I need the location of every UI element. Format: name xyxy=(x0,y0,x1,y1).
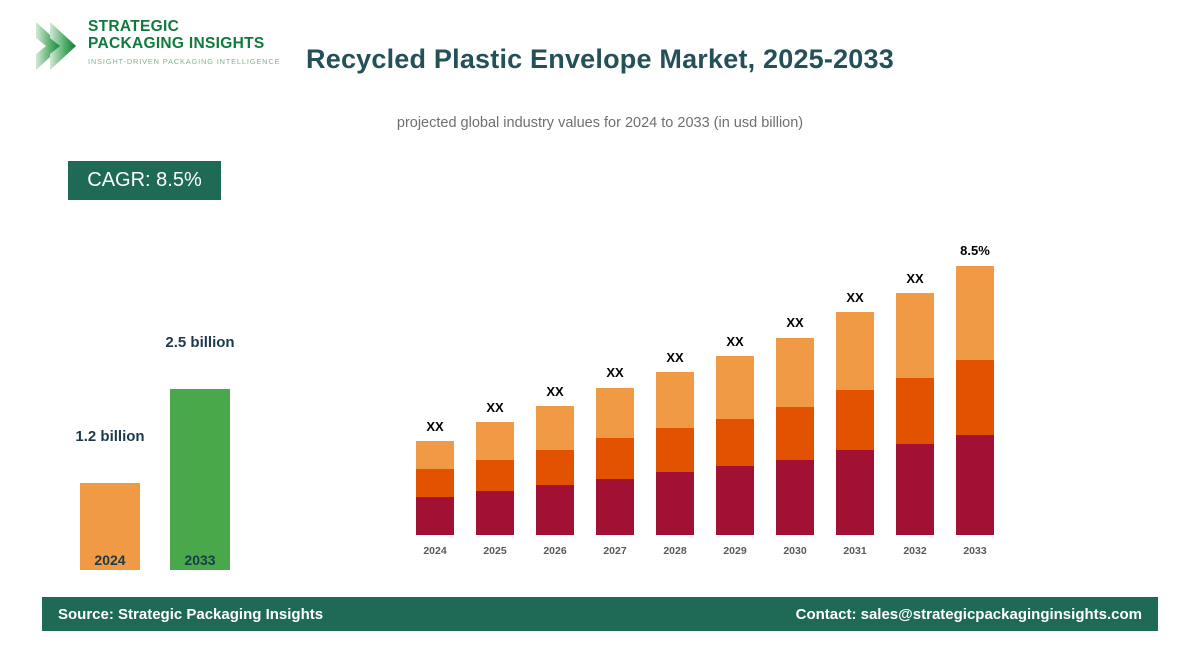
stacked-segment-segment-top-2025 xyxy=(476,422,514,460)
stacked-segment-segment-bottom-2028 xyxy=(656,472,694,535)
stacked-segment-segment-bottom-2027 xyxy=(596,479,634,535)
stacked-segment-segment-top-2029 xyxy=(716,356,754,419)
stacked-segment-segment-middle-2028 xyxy=(656,428,694,472)
stacked-segment-segment-middle-2031 xyxy=(836,390,874,450)
stacked-value-label-2033: 8.5% xyxy=(935,243,1015,258)
stacked-segment-segment-bottom-2029 xyxy=(716,466,754,535)
stacked-value-label-2030: XX xyxy=(755,315,835,330)
stacked-segment-segment-bottom-2030 xyxy=(776,460,814,535)
stacked-segment-segment-bottom-2025 xyxy=(476,491,514,535)
stacked-segment-segment-top-2028 xyxy=(656,372,694,428)
stacked-value-label-2032: XX xyxy=(875,271,955,286)
stacked-bar-2024 xyxy=(416,441,454,535)
stacked-segment-segment-top-2027 xyxy=(596,388,634,438)
stacked-bar-2027 xyxy=(596,388,634,535)
mini-value-label-2033: 2.5 billion xyxy=(110,334,290,351)
stacked-value-label-2026: XX xyxy=(515,384,595,399)
segment-stacked-forecast-chart: XX2024XX2025XX2026XX2027XX2028XX2029XX20… xyxy=(400,190,1020,560)
mini-axis-label-2033: 2033 xyxy=(140,552,260,568)
stacked-value-label-2028: XX xyxy=(635,350,715,365)
stacked-segment-segment-middle-2027 xyxy=(596,438,634,479)
stacked-bar-2030 xyxy=(776,338,814,535)
stacked-value-label-2025: XX xyxy=(455,400,535,415)
stacked-axis-label-2033: 2033 xyxy=(935,545,1015,557)
stacked-bar-2031 xyxy=(836,312,874,535)
stacked-bar-2033 xyxy=(956,266,994,535)
stacked-segment-segment-middle-2030 xyxy=(776,407,814,460)
stacked-bar-2028 xyxy=(656,372,694,535)
page-subtitle: projected global industry values for 202… xyxy=(0,115,1200,131)
stacked-bar-2025 xyxy=(476,422,514,535)
footer-bar: Source: Strategic Packaging Insights Con… xyxy=(42,597,1158,631)
stacked-segment-segment-top-2033 xyxy=(956,266,994,360)
logo-line-1: STRATEGIC xyxy=(88,18,280,35)
stacked-segment-segment-middle-2033 xyxy=(956,360,994,435)
stacked-bar-2029 xyxy=(716,356,754,535)
stacked-segment-segment-top-2032 xyxy=(896,293,934,378)
stacked-segment-segment-top-2030 xyxy=(776,338,814,407)
stacked-value-label-2031: XX xyxy=(815,290,895,305)
stacked-bar-2032 xyxy=(896,293,934,535)
footer-contact: Contact: sales@strategicpackaginginsight… xyxy=(796,606,1142,623)
stacked-segment-segment-middle-2032 xyxy=(896,378,934,444)
stacked-segment-segment-middle-2025 xyxy=(476,460,514,491)
page-title: Recycled Plastic Envelope Market, 2025-2… xyxy=(0,44,1200,75)
stacked-bar-2026 xyxy=(536,406,574,535)
stacked-segment-segment-top-2026 xyxy=(536,406,574,450)
stacked-segment-segment-middle-2026 xyxy=(536,450,574,485)
stacked-segment-segment-bottom-2026 xyxy=(536,485,574,535)
stacked-segment-segment-top-2024 xyxy=(416,441,454,469)
stacked-segment-segment-bottom-2032 xyxy=(896,444,934,535)
stacked-segment-segment-top-2031 xyxy=(836,312,874,390)
stacked-segment-segment-middle-2029 xyxy=(716,419,754,466)
stacked-segment-segment-bottom-2033 xyxy=(956,435,994,535)
endpoint-comparison-chart: 1.2 billion20242.5 billion2033 xyxy=(40,300,300,570)
cagr-badge: CAGR: 8.5% xyxy=(68,161,221,200)
stacked-segment-segment-bottom-2024 xyxy=(416,497,454,535)
stacked-segment-segment-bottom-2031 xyxy=(836,450,874,535)
stacked-value-label-2027: XX xyxy=(575,365,655,380)
stacked-segment-segment-middle-2024 xyxy=(416,469,454,497)
stacked-value-label-2029: XX xyxy=(695,334,775,349)
mini-bar-2033 xyxy=(170,389,230,570)
stacked-value-label-2024: XX xyxy=(395,419,475,434)
footer-source: Source: Strategic Packaging Insights xyxy=(58,606,323,623)
